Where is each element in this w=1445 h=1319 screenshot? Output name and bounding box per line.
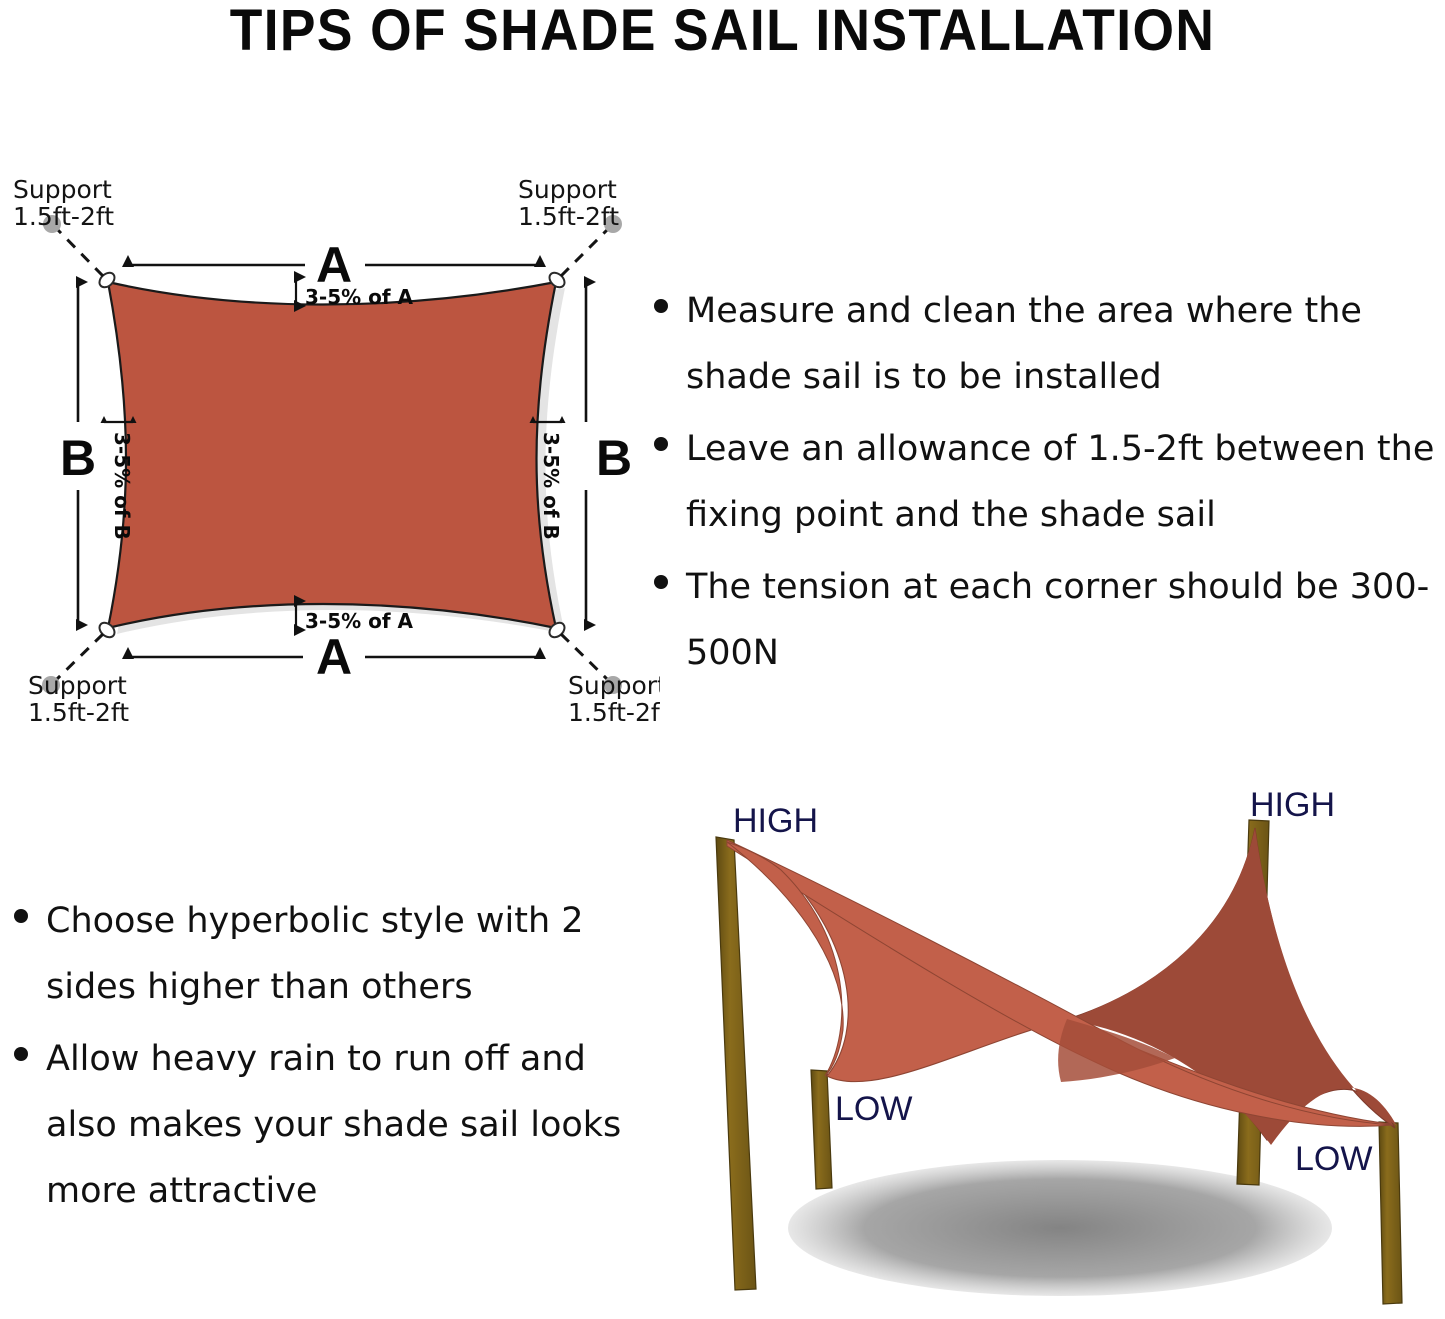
dimension-letter-a-bottom: A bbox=[316, 629, 352, 685]
shade-sail-shape bbox=[108, 282, 556, 628]
list-item-text: Measure and clean the area where the sha… bbox=[686, 291, 1362, 397]
hyperbolic-sail-diagram: HIGH HIGH LOW LOW bbox=[675, 780, 1445, 1319]
tips-list-hyperbolic: Choose hyperbolic style with 2 sides hig… bbox=[0, 888, 640, 1230]
bullet-icon bbox=[654, 299, 668, 313]
support-label-bottom-left-line2: 1.5ft-2ft bbox=[28, 698, 129, 727]
curve-label-left: 3-5% of B bbox=[110, 432, 134, 540]
list-item-text: The tension at each corner should be 300… bbox=[686, 567, 1429, 673]
list-item-text: Allow heavy rain to run off and also mak… bbox=[46, 1039, 621, 1211]
support-label-top-right-line2: 1.5ft-2ft bbox=[518, 202, 619, 231]
support-label-top-left-line2: 1.5ft-2ft bbox=[13, 202, 114, 231]
list-item-text: Leave an allowance of 1.5-2ft between th… bbox=[686, 429, 1434, 535]
infographic-page: TIPS OF SHADE SAIL INSTALLATION bbox=[0, 0, 1445, 1319]
rectangular-sail-diagram: Support 1.5ft-2ft Support 1.5ft-2ft Supp… bbox=[0, 160, 660, 730]
dimension-letter-b-left: B bbox=[60, 430, 96, 486]
post-low-left bbox=[811, 1070, 832, 1189]
label-low-right: LOW bbox=[1295, 1140, 1372, 1178]
label-high-left: HIGH bbox=[733, 802, 818, 840]
bullet-icon bbox=[14, 909, 28, 923]
bullet-icon bbox=[654, 437, 668, 451]
label-low-left: LOW bbox=[835, 1090, 912, 1128]
page-title: TIPS OF SHADE SAIL INSTALLATION bbox=[58, 0, 1387, 62]
support-line-top-right bbox=[561, 228, 609, 276]
list-item-text: Choose hyperbolic style with 2 sides hig… bbox=[46, 901, 584, 1007]
list-item: Leave an allowance of 1.5-2ft between th… bbox=[640, 416, 1445, 548]
curve-label-bottom: 3-5% of A bbox=[305, 609, 414, 633]
support-line-top-left bbox=[56, 228, 103, 276]
tips-list-installation: Measure and clean the area where the sha… bbox=[640, 278, 1445, 692]
list-item: Measure and clean the area where the sha… bbox=[640, 278, 1445, 410]
label-high-right: HIGH bbox=[1250, 786, 1335, 824]
bullet-icon bbox=[654, 575, 668, 589]
support-label-top-right-line1: Support bbox=[518, 175, 617, 204]
support-label-bottom-right-line2: 1.5ft-2ft bbox=[568, 698, 660, 727]
curve-label-right: 3-5% of B bbox=[539, 432, 563, 540]
curve-label-top: 3-5% of A bbox=[305, 285, 414, 309]
list-item: Allow heavy rain to run off and also mak… bbox=[0, 1026, 640, 1224]
list-item: The tension at each corner should be 300… bbox=[640, 554, 1445, 686]
post-low-right bbox=[1379, 1122, 1402, 1304]
support-label-bottom-left-line1: Support bbox=[28, 671, 127, 700]
dimension-letter-b-right: B bbox=[596, 430, 632, 486]
list-item: Choose hyperbolic style with 2 sides hig… bbox=[0, 888, 640, 1020]
post-high-left bbox=[716, 837, 756, 1290]
support-label-top-left-line1: Support bbox=[13, 175, 112, 204]
bullet-icon bbox=[14, 1047, 28, 1061]
